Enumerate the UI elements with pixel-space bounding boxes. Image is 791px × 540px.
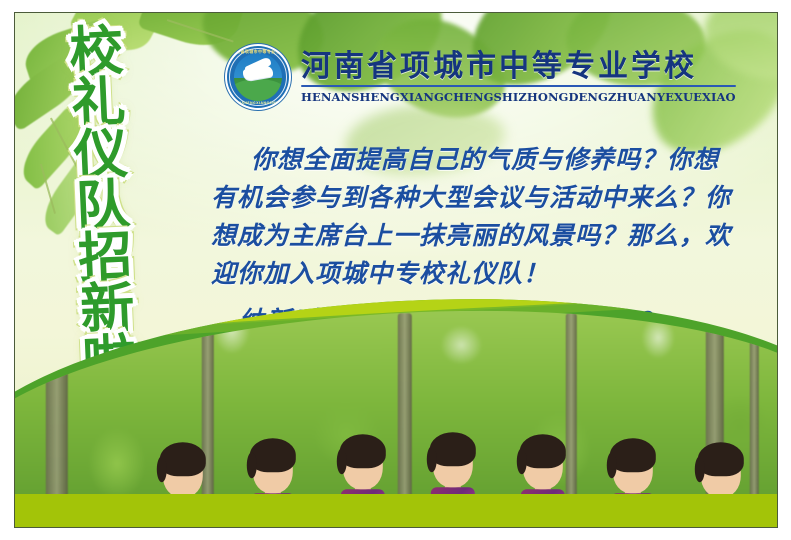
poster-root: 河南省项城市中等专业学校 HENANSHENGXIANGCHENGSHI 河南省… (0, 0, 791, 540)
school-name-cn: 河南省项城市中等专业学校 (301, 50, 736, 84)
body-text-block: 你想全面提高自己的气质与修养吗？你想有机会参与到各种大型会议与活动中来么？你想成… (211, 141, 741, 293)
school-name-pinyin: HENANSHENGXIANGCHENGSHIZHONGDENGZHUANYEX… (301, 90, 736, 104)
body-paragraph: 你想全面提高自己的气质与修养吗？你想有机会参与到各种大型会议与活动中来么？你想成… (211, 141, 741, 293)
emblem-bottom-text: HENANSHENGXIANGCHENGSHI (227, 101, 289, 105)
poster-header: 河南省项城市中等专业学校 HENANSHENGXIANGCHENGSHI 河南省… (227, 41, 697, 113)
header-underline (301, 85, 736, 87)
school-name-block: 河南省项城市中等专业学校 HENANSHENGXIANGCHENGSHIZHON… (301, 50, 736, 105)
poster-frame: 河南省项城市中等专业学校 HENANSHENGXIANGCHENGSHI 河南省… (14, 12, 778, 528)
emblem-top-text: 河南省项城市中等专业学校 (227, 49, 289, 55)
school-emblem-icon: 河南省项城市中等专业学校 HENANSHENGXIANGCHENGSHI (227, 46, 289, 108)
bottom-green-bar (15, 494, 777, 527)
